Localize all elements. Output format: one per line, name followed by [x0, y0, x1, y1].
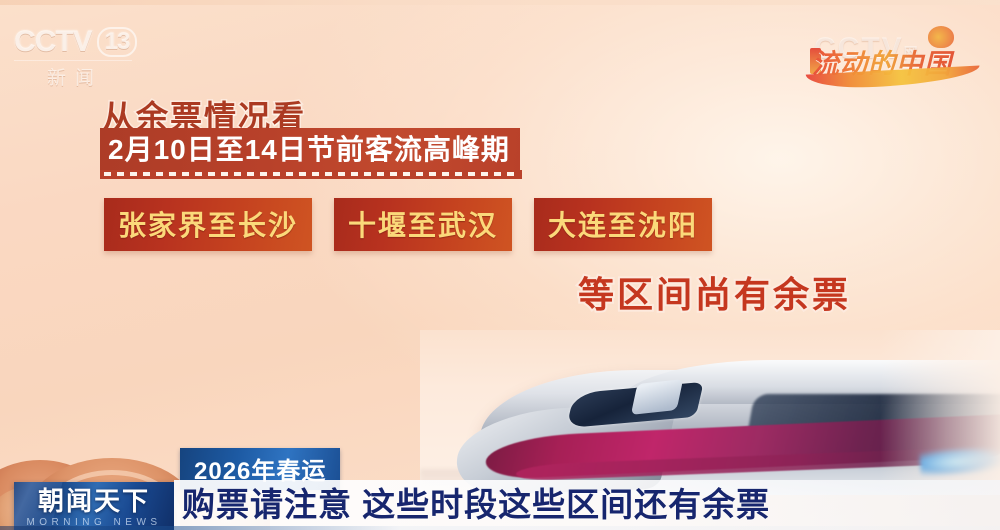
subline-text: 等区间尚有余票 [578, 266, 851, 318]
cctv-wordmark: CCTV 13 [14, 26, 144, 58]
program-name-zh: 朝闻天下 [14, 482, 174, 517]
route-chip-list: 张家界至长沙 十堰至武汉 大连至沈阳 [104, 198, 712, 251]
photo-motion-blur [880, 330, 1000, 495]
cctv-text: CCTV [14, 26, 92, 58]
program-logo-block: 朝闻天下 MORNING NEWS [14, 482, 174, 530]
banner-dashed-edge [100, 170, 522, 179]
high-speed-train-photo [420, 330, 1000, 495]
headline-bar: 购票请注意 这些时段这些区间还有余票 [174, 480, 1000, 530]
headline-text: 购票请注意 这些时段这些区间还有余票 [174, 480, 1000, 530]
program-corner-logo: CCTV网 流动的中国 [804, 22, 984, 90]
program-name-en: MORNING NEWS [14, 517, 174, 529]
route-chip: 十堰至武汉 [334, 198, 512, 251]
cctv13-channel-logo: CCTV 13 新闻 [14, 26, 144, 86]
channel-subtitle: 新闻 [14, 60, 132, 90]
route-chip: 张家界至长沙 [104, 198, 312, 251]
top-edge-strip [0, 0, 1000, 5]
channel-number: 13 [97, 27, 138, 57]
broadcast-screen: CCTV 13 新闻 CCTV网 流动的中国 从余票情况看 2月10日至14日节… [0, 0, 1000, 530]
route-chip: 大连至沈阳 [534, 198, 712, 251]
